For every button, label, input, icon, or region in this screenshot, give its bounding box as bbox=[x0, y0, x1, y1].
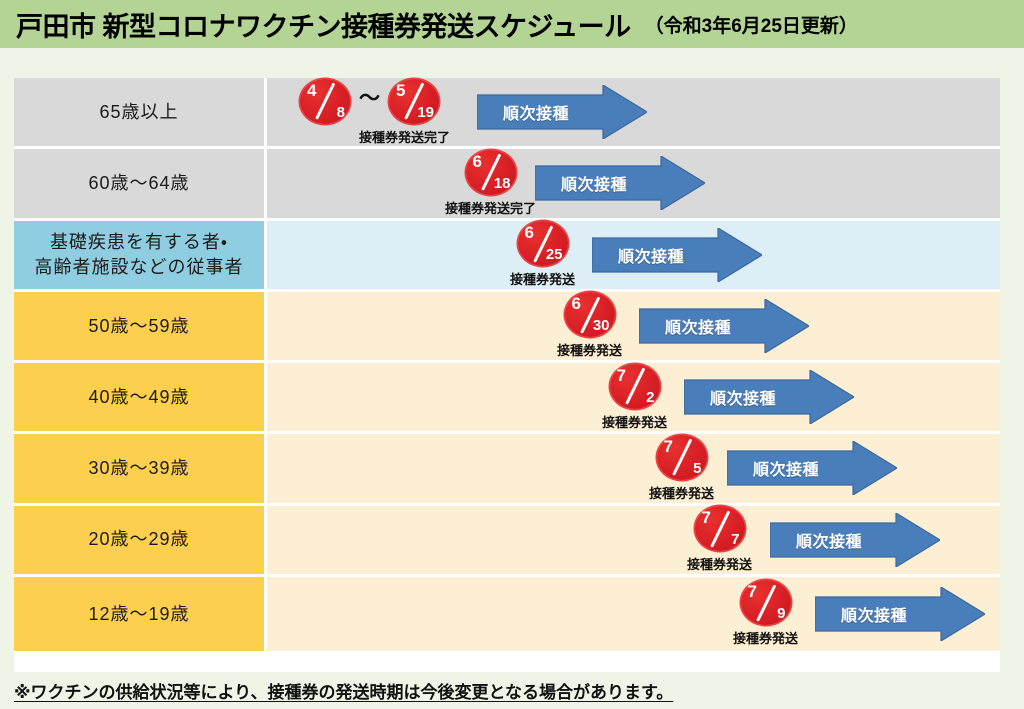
coupon-dispatch-date-group: 77接種券発送 bbox=[687, 506, 752, 574]
coupon-dispatch-date-group: 79接種券発送 bbox=[733, 577, 798, 651]
schedule-row: 50歳〜59歳630接種券発送順次接種 bbox=[14, 292, 1000, 363]
date-badge: 519 bbox=[389, 79, 439, 124]
coupon-dispatch-caption: 接種券発送 bbox=[687, 554, 752, 573]
arrow-label: 順次接種 bbox=[753, 456, 819, 480]
row-label-age-group: 30歳〜39歳 bbox=[14, 434, 267, 502]
badge-slash-icon bbox=[672, 439, 692, 476]
coupon-dispatch-caption: 接種券発送 bbox=[733, 628, 798, 647]
row-timeline: 618接種券発送完了順次接種 bbox=[267, 149, 1000, 217]
last-updated-note: （令和3年6月25日更新） bbox=[645, 11, 858, 38]
date-badge-row: 75 bbox=[657, 435, 707, 480]
badge-month: 6 bbox=[473, 153, 482, 170]
schedule-row: 20歳〜29歳77接種券発送順次接種 bbox=[14, 506, 1000, 577]
date-badge: 72 bbox=[610, 364, 660, 409]
badge-month: 7 bbox=[748, 583, 757, 600]
vaccination-schedule-table: 65歳以上48〜519接種券発送完了順次接種60歳〜64歳618接種券発送完了順… bbox=[14, 78, 1000, 672]
coupon-dispatch-date-group: 72接種券発送 bbox=[602, 363, 667, 431]
date-badge: 75 bbox=[657, 435, 707, 480]
row-timeline: 630接種券発送順次接種 bbox=[267, 292, 1000, 360]
badge-day: 7 bbox=[731, 532, 739, 547]
arrow-label: 順次接種 bbox=[561, 171, 627, 195]
date-badge: 48 bbox=[300, 79, 350, 124]
row-label-age-group: 12歳〜19歳 bbox=[14, 577, 267, 651]
sequential-vaccination-arrow: 順次接種 bbox=[727, 441, 897, 495]
coupon-dispatch-caption: 接種券発送 bbox=[557, 340, 622, 359]
badge-month: 7 bbox=[617, 367, 626, 384]
sequential-vaccination-arrow: 順次接種 bbox=[592, 228, 762, 282]
row-timeline: 625接種券発送順次接種 bbox=[267, 221, 1000, 289]
date-badge-row: 618 bbox=[466, 150, 516, 195]
date-badge: 77 bbox=[695, 506, 745, 551]
badge-month: 4 bbox=[307, 82, 316, 99]
date-badge-row: 630 bbox=[565, 292, 615, 337]
header-band: 戸田市 新型コロナワクチン接種券発送スケジュール （令和3年6月25日更新） bbox=[0, 0, 1024, 48]
coupon-dispatch-date-group: 625接種券発送 bbox=[510, 221, 575, 289]
date-badge-row: 77 bbox=[695, 506, 745, 551]
date-badge-row: 79 bbox=[741, 580, 791, 625]
row-label-age-group: 基礎疾患を有する者・高齢者施設などの従事者 bbox=[14, 221, 267, 289]
row-timeline: 48〜519接種券発送完了順次接種 bbox=[267, 78, 1000, 146]
row-timeline: 75接種券発送順次接種 bbox=[267, 434, 1000, 502]
arrow-label: 順次接種 bbox=[665, 314, 731, 338]
date-badge: 630 bbox=[565, 292, 615, 337]
sequential-vaccination-arrow: 順次接種 bbox=[684, 370, 854, 424]
sequential-vaccination-arrow: 順次接種 bbox=[535, 156, 705, 210]
badge-slash-icon bbox=[756, 584, 776, 621]
badge-day: 18 bbox=[494, 176, 511, 191]
badge-slash-icon bbox=[315, 83, 335, 120]
badge-month: 5 bbox=[396, 82, 405, 99]
badge-day: 25 bbox=[546, 247, 563, 262]
coupon-dispatch-caption: 接種券発送完了 bbox=[445, 198, 536, 217]
sequential-vaccination-arrow: 順次接種 bbox=[639, 299, 809, 353]
arrow-label: 順次接種 bbox=[503, 100, 569, 124]
sequential-vaccination-arrow: 順次接種 bbox=[815, 587, 985, 641]
badge-day: 30 bbox=[593, 318, 610, 333]
badge-day: 2 bbox=[646, 390, 654, 405]
schedule-row: 60歳〜64歳618接種券発送完了順次接種 bbox=[14, 149, 1000, 220]
badge-day: 9 bbox=[777, 606, 785, 621]
coupon-dispatch-date-group: 618接種券発送完了 bbox=[445, 149, 536, 217]
sequential-vaccination-arrow: 順次接種 bbox=[477, 85, 647, 139]
badge-slash-icon bbox=[710, 510, 730, 547]
row-label-age-group: 65歳以上 bbox=[14, 78, 267, 146]
page-title: 戸田市 新型コロナワクチン接種券発送スケジュール bbox=[16, 5, 631, 44]
coupon-dispatch-caption: 接種券発送完了 bbox=[359, 127, 450, 146]
coupon-dispatch-date-group: 48〜519接種券発送完了 bbox=[289, 78, 450, 146]
date-badge: 79 bbox=[741, 580, 791, 625]
arrow-label: 順次接種 bbox=[796, 528, 862, 552]
badge-day: 19 bbox=[417, 105, 434, 120]
coupon-dispatch-caption: 接種券発送 bbox=[510, 269, 575, 288]
badge-month: 7 bbox=[702, 509, 711, 526]
row-label-age-group: 50歳〜59歳 bbox=[14, 292, 267, 360]
arrow-label: 順次接種 bbox=[841, 602, 907, 626]
badge-month: 6 bbox=[525, 224, 534, 241]
date-badge: 625 bbox=[518, 221, 568, 266]
arrow-label: 順次接種 bbox=[618, 243, 684, 267]
footnote: ※ワクチンの供給状況等により、接種券の発送時期は今後変更となる場合があります。 bbox=[14, 678, 673, 703]
coupon-dispatch-date-group: 630接種券発送 bbox=[557, 292, 622, 360]
coupon-dispatch-caption: 接種券発送 bbox=[602, 412, 667, 431]
schedule-row: 65歳以上48〜519接種券発送完了順次接種 bbox=[14, 78, 1000, 149]
row-timeline: 79接種券発送順次接種 bbox=[267, 577, 1000, 651]
row-timeline: 72接種券発送順次接種 bbox=[267, 363, 1000, 431]
badge-month: 6 bbox=[572, 295, 581, 312]
schedule-row: 30歳〜39歳75接種券発送順次接種 bbox=[14, 434, 1000, 505]
date-range-separator: 〜 bbox=[359, 88, 380, 109]
row-label-age-group: 20歳〜29歳 bbox=[14, 506, 267, 574]
date-badge: 618 bbox=[466, 150, 516, 195]
coupon-dispatch-caption: 接種券発送 bbox=[649, 483, 714, 502]
badge-slash-icon bbox=[625, 368, 645, 405]
row-timeline: 77接種券発送順次接種 bbox=[267, 506, 1000, 574]
badge-day: 8 bbox=[337, 105, 345, 120]
date-badge-row: 72 bbox=[610, 364, 660, 409]
row-label-age-group: 40歳〜49歳 bbox=[14, 363, 267, 431]
schedule-row: 40歳〜49歳72接種券発送順次接種 bbox=[14, 363, 1000, 434]
row-label-age-group: 60歳〜64歳 bbox=[14, 149, 267, 217]
coupon-dispatch-date-group: 75接種券発送 bbox=[649, 434, 714, 502]
badge-month: 7 bbox=[664, 438, 673, 455]
sequential-vaccination-arrow: 順次接種 bbox=[770, 513, 940, 567]
schedule-row: 12歳〜19歳79接種券発送順次接種 bbox=[14, 577, 1000, 651]
arrow-label: 順次接種 bbox=[710, 385, 776, 409]
badge-day: 5 bbox=[693, 461, 701, 476]
date-badge-row: 625 bbox=[518, 221, 568, 266]
date-badge-row: 48〜519 bbox=[300, 79, 439, 124]
schedule-row: 基礎疾患を有する者・高齢者施設などの従事者625接種券発送順次接種 bbox=[14, 221, 1000, 292]
